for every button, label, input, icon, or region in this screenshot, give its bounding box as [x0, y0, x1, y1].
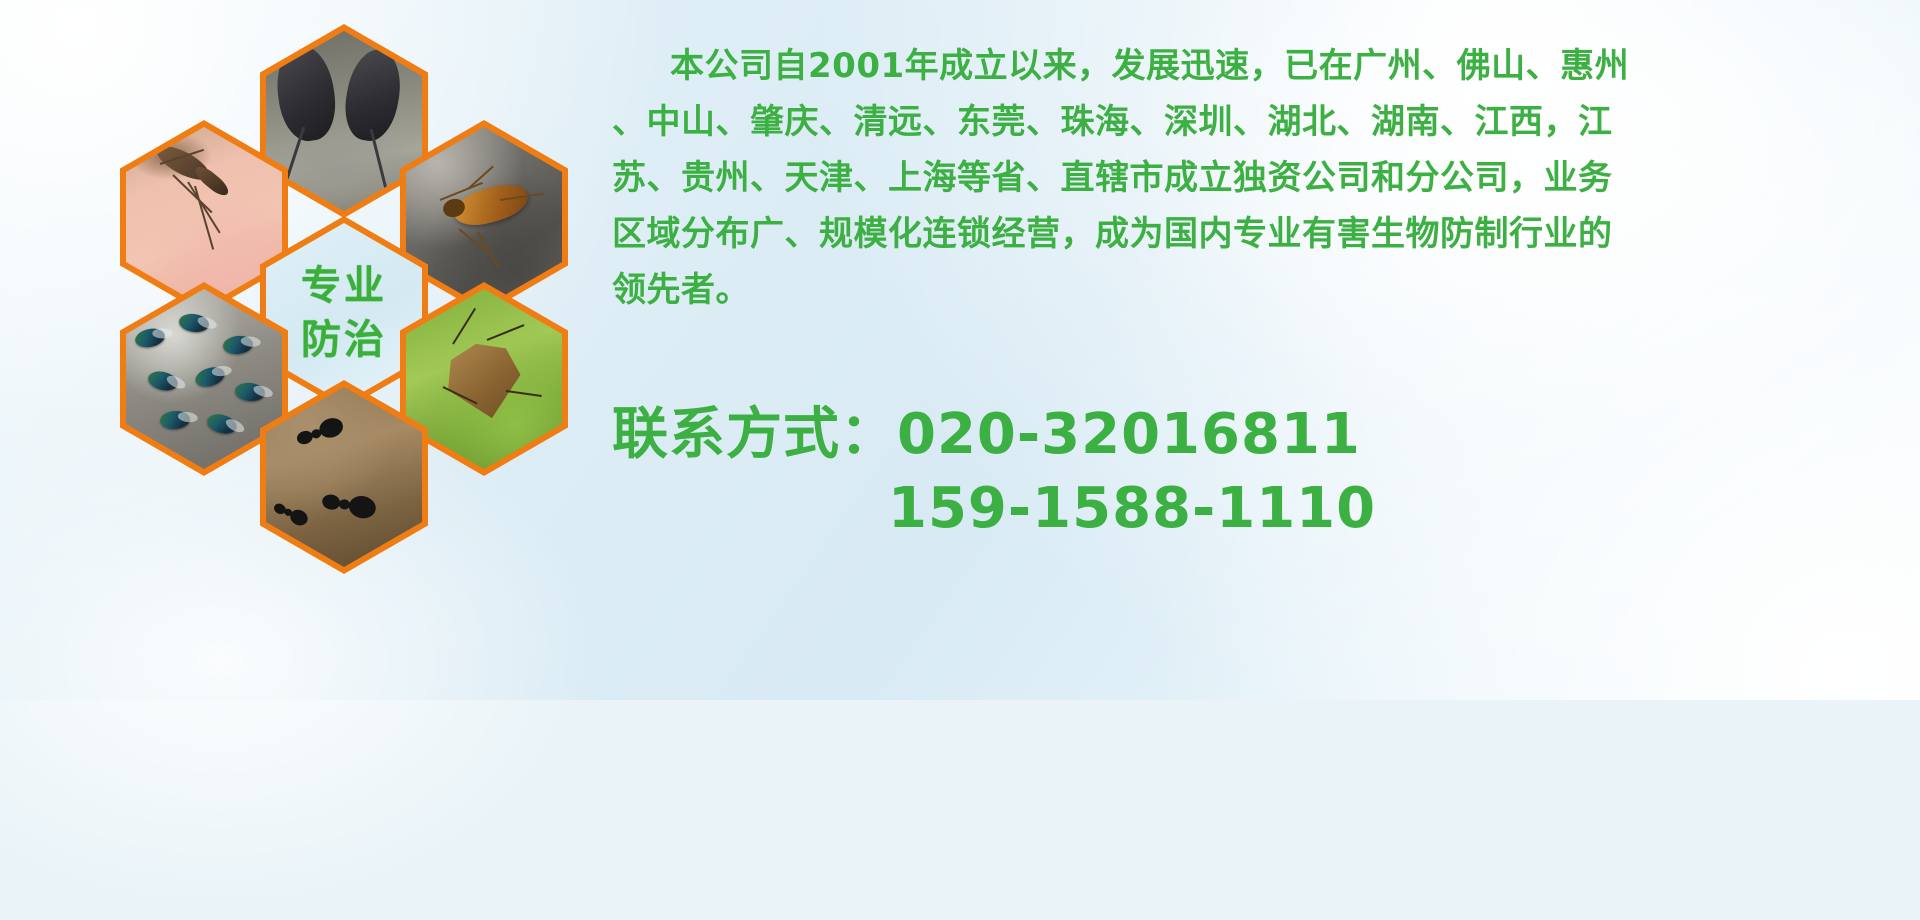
cockroach-photo — [406, 127, 562, 307]
honeycomb-label-line2: 防治 — [301, 313, 387, 367]
contact-phone-secondary[interactable]: 159-1588-1110 — [612, 472, 1912, 546]
intro-line-4: 区域分布广、规模化连锁经营，成为国内专业有害生物防制行业的 — [612, 206, 1882, 262]
promotional-banner: 专业 防治 — [0, 0, 1920, 700]
contact-block: 联系方式：020-32016811 159-1588-1110 — [612, 398, 1912, 546]
honeycomb-label-line1: 专业 — [301, 259, 387, 313]
intro-line-5: 领先者。 — [612, 262, 1882, 318]
rodent-photo — [266, 31, 422, 211]
ant-photo — [266, 387, 422, 567]
flies-photo — [126, 289, 282, 469]
stinkbug-photo — [406, 289, 562, 469]
intro-line-2: 、中山、肇庆、清远、东莞、珠海、深圳、湖北、湖南、江西，江 — [612, 94, 1882, 150]
honeycomb-label: 专业 防治 — [301, 259, 387, 367]
mosquito-photo — [126, 127, 282, 307]
intro-paragraph: 本公司自2001年成立以来，发展迅速，已在广州、佛山、惠州 、中山、肇庆、清远、… — [612, 38, 1882, 318]
intro-line-1: 本公司自2001年成立以来，发展迅速，已在广州、佛山、惠州 — [612, 38, 1882, 94]
contact-phone-primary[interactable]: 联系方式：020-32016811 — [612, 398, 1912, 472]
intro-line-3: 苏、贵州、天津、上海等省、直辖市成立独资公司和分公司，业务 — [612, 150, 1882, 206]
honeycomb-image-cluster: 专业 防治 — [92, 8, 592, 568]
